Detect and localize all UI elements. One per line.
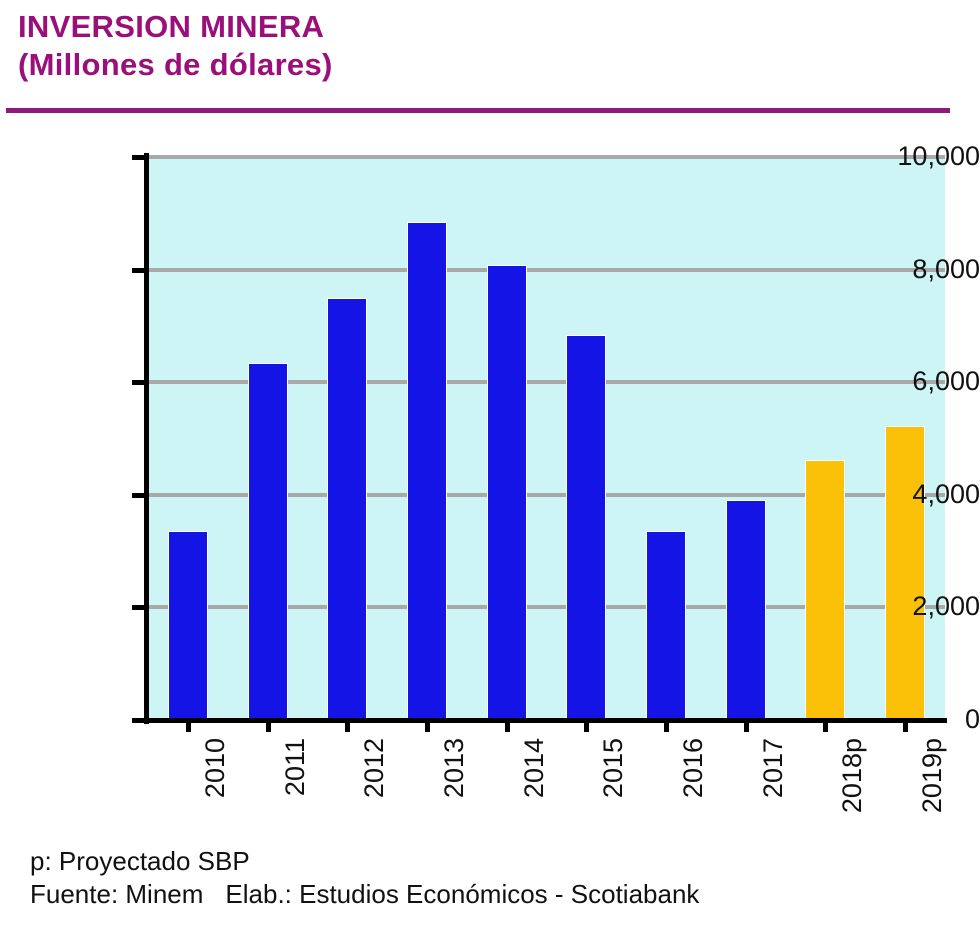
bar-2018p <box>805 460 845 720</box>
x-axis-label-2019p: 2019p <box>917 738 948 813</box>
x-axis-label-2016: 2016 <box>678 738 709 798</box>
elaboration-label: Elab.: Estudios Económicos - Scotiabank <box>225 879 699 909</box>
y-axis-label: 6,000 <box>854 368 980 395</box>
gridline <box>148 155 945 159</box>
bar-2015 <box>566 335 606 720</box>
x-axis-tick <box>266 719 271 732</box>
y-axis-tick <box>132 155 146 160</box>
chart-header: INVERSION MINERA (Millones de dólares) <box>0 0 980 84</box>
x-axis-tick <box>584 719 589 732</box>
y-axis-label: 10,000 <box>854 143 980 170</box>
bar-2019p <box>885 426 925 720</box>
x-axis-tick <box>425 719 430 732</box>
x-axis-label-2017: 2017 <box>758 738 789 798</box>
bar-2010 <box>168 531 208 720</box>
x-axis-tick <box>903 719 908 732</box>
bar-2013 <box>407 222 447 720</box>
x-axis-label-2018p: 2018p <box>837 738 868 813</box>
page-subtitle: (Millones de dólares) <box>18 46 980 84</box>
bar-2017 <box>726 500 766 720</box>
bar-chart: 02,0004,0006,0008,00010,0002010201120122… <box>0 120 980 860</box>
source-label: Fuente: Minem <box>30 879 203 909</box>
y-axis-tick <box>132 380 146 385</box>
chart-footer: p: Proyectado SBP Fuente: MinemElab.: Es… <box>30 845 960 911</box>
x-axis-tick <box>744 719 749 732</box>
x-axis-label-2014: 2014 <box>519 738 550 798</box>
bar-2014 <box>487 265 527 720</box>
title-block: INVERSION MINERA (Millones de dólares) <box>0 0 980 84</box>
y-axis-label: 4,000 <box>854 481 980 508</box>
y-axis-label: 8,000 <box>854 256 980 283</box>
page-title: INVERSION MINERA <box>18 8 980 46</box>
bar-2012 <box>327 298 367 720</box>
x-axis-tick <box>664 719 669 732</box>
x-axis-label-2010: 2010 <box>200 738 231 798</box>
x-axis-label-2015: 2015 <box>598 738 629 798</box>
bar-2011 <box>248 363 288 721</box>
x-axis-tick <box>345 719 350 732</box>
footnote-source: Fuente: MinemElab.: Estudios Económicos … <box>30 878 960 911</box>
y-axis-tick <box>132 718 146 723</box>
x-axis-tick <box>186 719 191 732</box>
y-axis-line <box>144 153 149 724</box>
x-axis-label-2011: 2011 <box>280 738 311 796</box>
y-axis-label: 2,000 <box>854 593 980 620</box>
plot-area <box>148 157 945 720</box>
y-axis-tick <box>132 493 146 498</box>
y-axis-tick <box>132 268 146 273</box>
gridline <box>148 268 945 272</box>
bar-2016 <box>646 531 686 720</box>
y-axis-tick <box>132 605 146 610</box>
y-axis-label: 0 <box>854 706 980 733</box>
title-divider <box>6 108 950 113</box>
x-axis-label-2013: 2013 <box>439 738 470 798</box>
footnote-projected: p: Proyectado SBP <box>30 845 960 878</box>
x-axis-tick <box>823 719 828 732</box>
x-axis-label-2012: 2012 <box>359 738 390 798</box>
x-axis-tick <box>505 719 510 732</box>
